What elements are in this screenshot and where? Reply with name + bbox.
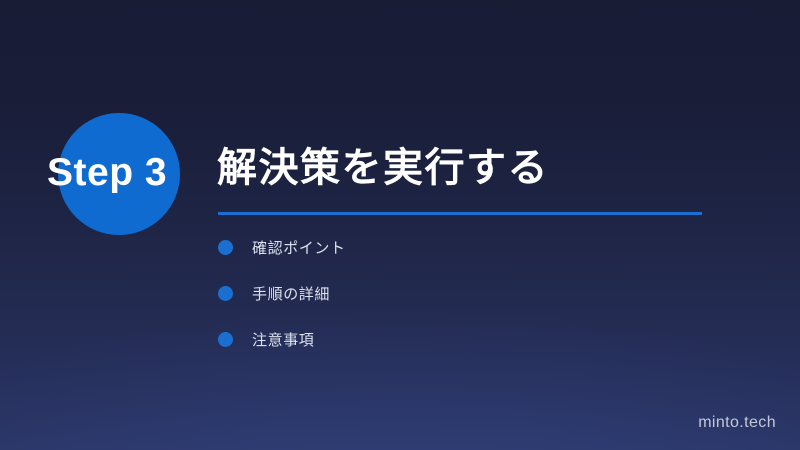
bullet-dot-icon [218,240,233,255]
list-item-label: 手順の詳細 [252,283,330,304]
footer-brand: minto.tech [698,414,776,432]
bullet-dot-icon [218,286,233,301]
list-item-label: 確認ポイント [252,237,346,258]
page-title: 解決策を実行する [217,143,549,193]
list-item-label: 注意事項 [252,329,314,350]
list-item: 手順の詳細 [218,279,346,307]
list-item: 注意事項 [218,325,346,353]
slide-canvas: Step 3 解決策を実行する 確認ポイント 手順の詳細 注意事項 minto.… [0,0,800,450]
bullet-list: 確認ポイント 手順の詳細 注意事項 [218,233,346,371]
step-badge-label: Step 3 [47,152,167,194]
bullet-dot-icon [218,332,233,347]
title-divider [218,212,702,215]
list-item: 確認ポイント [218,233,346,261]
